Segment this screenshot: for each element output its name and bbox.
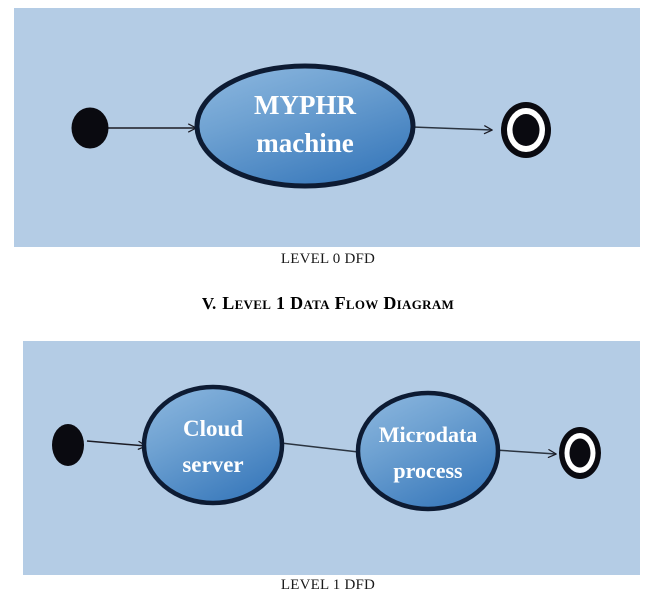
level0-end-node[interactable] [501,102,551,158]
level1-process1-node[interactable]: Cloud server [144,387,282,503]
level1-end-node[interactable] [559,427,601,479]
level1-caption: LEVEL 1 DFD [0,577,656,594]
level0-caption: LEVEL 0 DFD [0,251,656,268]
level1-process2-label-line1: Microdata [379,422,478,447]
level0-process-label-line2: machine [256,128,354,158]
level0-start-node[interactable] [72,108,109,149]
section-heading-title: Level 1 Data Flow Diagram [222,293,454,313]
level0-edge-process-to-end [412,127,492,130]
level1-edge-process1-to-process2 [281,443,367,453]
level1-start-node[interactable] [52,424,84,466]
level0-process-node[interactable]: MYPHR machine [197,66,413,186]
level0-diagram-panel: MYPHR machine [14,8,640,247]
level1-process1-label-line2: server [182,452,243,477]
level1-process1-label-line1: Cloud [183,416,243,441]
level1-process2-node[interactable]: Microdata process [358,393,498,509]
level0-diagram-canvas: MYPHR machine [14,8,640,247]
level1-diagram-panel: Cloud server Microdata process [23,341,640,575]
level1-diagram-canvas: Cloud server Microdata process [23,341,640,575]
level0-process-label-line1: MYPHR [254,90,356,120]
section-heading: V.Level 1 Data Flow Diagram [0,293,656,314]
section-heading-numeral: V. [202,294,216,313]
level1-process2-label-line2: process [393,458,463,483]
level1-edge-process2-to-end [495,450,556,454]
figure-page: MYPHR machine LEVEL 0 DFD V.Level 1 Data… [0,0,656,595]
level1-edge-start-to-process1 [87,441,146,446]
